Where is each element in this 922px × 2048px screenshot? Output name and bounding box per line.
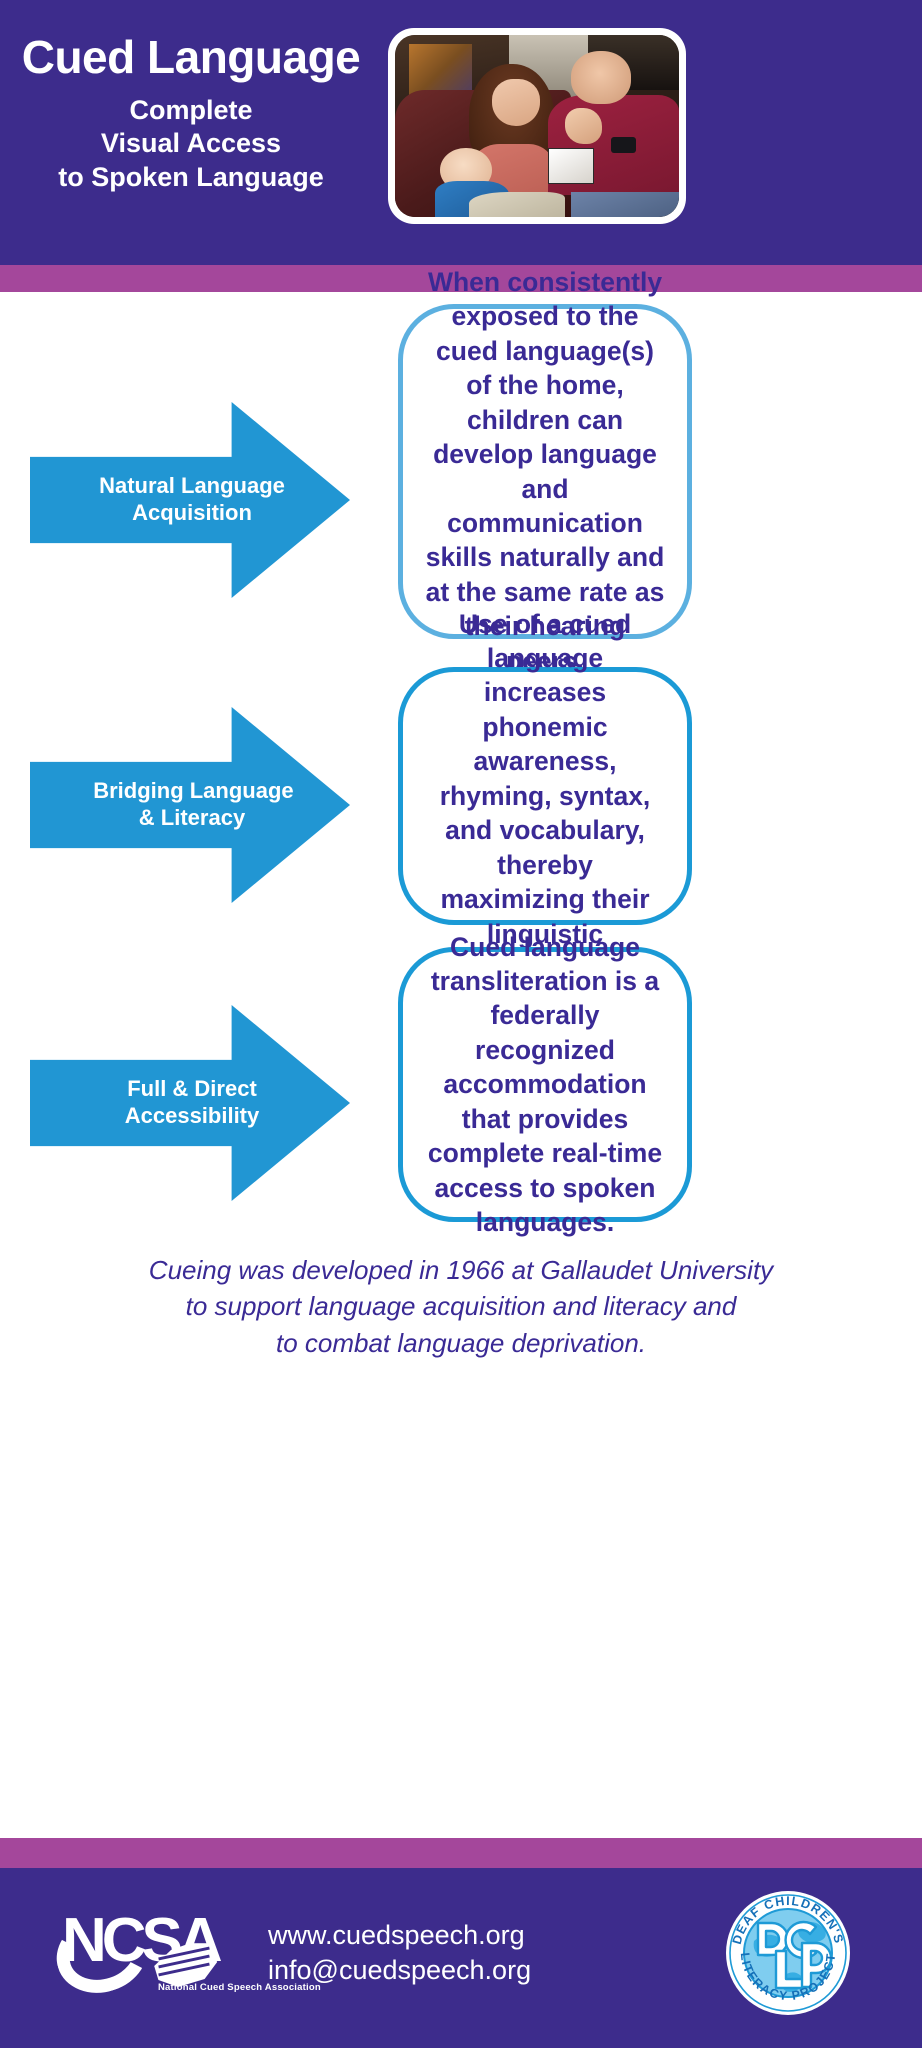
footnote-line-3: to combat language deprivation.	[0, 1325, 922, 1361]
divider-band-bottom	[0, 1838, 922, 1868]
photo-man-jeans	[571, 192, 679, 217]
callout-text-3: Cued language transliteration is a feder…	[425, 930, 665, 1240]
arrow-label-line-1: Natural Language	[93, 473, 291, 500]
page-title: Cued Language	[0, 34, 382, 80]
header-photo-frame	[388, 28, 686, 224]
header-text-block: Cued Language Complete Visual Access to …	[0, 34, 382, 194]
content-area: Natural Language Acquisition When consis…	[0, 292, 922, 1838]
photo-man-head	[571, 51, 631, 104]
arrow-full-direct-accessibility: Full & Direct Accessibility	[30, 1005, 350, 1201]
arrow-label-line-1: Full & Direct	[93, 1076, 291, 1103]
contact-block: www.cuedspeech.org info@cuedspeech.org	[268, 1918, 598, 1988]
arrow-label-line-2: Acquisition	[93, 500, 291, 527]
callout-box-1: When consistently exposed to the cued la…	[398, 304, 692, 639]
photo-flash-card	[548, 148, 593, 184]
section-bridging-language-literacy: Bridging Language & Literacy Use of a cu…	[0, 667, 922, 937]
arrow-label-line-2: Accessibility	[93, 1103, 291, 1130]
arrow-label: Full & Direct Accessibility	[89, 1076, 291, 1130]
arrow-label: Natural Language Acquisition	[89, 473, 291, 527]
footnote-line-2: to support language acquisition and lite…	[0, 1288, 922, 1324]
footnote-line-1: Cueing was developed in 1966 at Gallaude…	[0, 1252, 922, 1288]
arrow-bridging-language-literacy: Bridging Language & Literacy	[30, 707, 350, 903]
footnote-text: Cueing was developed in 1966 at Gallaude…	[0, 1252, 922, 1361]
arrow-label: Bridging Language & Literacy	[89, 778, 291, 832]
dclp-logo[interactable]: DEAF CHILDREN'S LITERACY PROJECT	[724, 1889, 852, 2017]
email-link[interactable]: info@cuedspeech.org	[268, 1953, 598, 1988]
arrow-natural-language-acquisition: Natural Language Acquisition	[30, 402, 350, 598]
photo-woman-face	[492, 79, 540, 126]
photo-wristwatch	[611, 137, 637, 153]
callout-box-3: Cued language transliteration is a feder…	[398, 947, 692, 1222]
subtitle-line-3: to Spoken Language	[0, 161, 382, 194]
arrow-label-line-2: & Literacy	[93, 805, 291, 832]
subtitle-line-2: Visual Access	[0, 127, 382, 160]
page-subtitle: Complete Visual Access to Spoken Languag…	[0, 94, 382, 194]
section-full-direct-accessibility: Full & Direct Accessibility Cued languag…	[0, 947, 922, 1237]
ncsa-logo[interactable]: NCSA National Cued Speech Association	[62, 1910, 302, 1996]
header-banner: Cued Language Complete Visual Access to …	[0, 0, 922, 265]
family-photo	[395, 35, 679, 217]
photo-woman-legs	[469, 192, 566, 217]
photo-man-cueing-hand	[565, 108, 602, 144]
section-natural-language-acquisition: Natural Language Acquisition When consis…	[0, 304, 922, 652]
callout-box-2: Use of a cued language increases phonemi…	[398, 667, 692, 925]
website-link[interactable]: www.cuedspeech.org	[268, 1918, 598, 1953]
cueing-hand-lines-icon	[158, 1952, 210, 1980]
arrow-label-line-1: Bridging Language	[93, 778, 291, 805]
subtitle-line-1: Complete	[0, 94, 382, 127]
